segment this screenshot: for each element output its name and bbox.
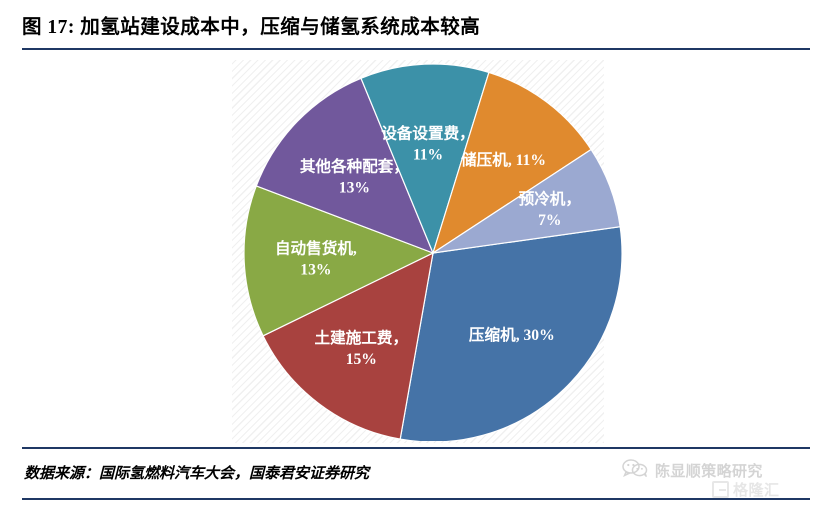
gelonghui-logo-icon bbox=[712, 481, 729, 498]
pie-slice-label: 压缩机, 30% bbox=[469, 325, 555, 344]
gelonghui-watermark-text: 格隆汇 bbox=[733, 479, 780, 500]
pie-chart: 压缩机, 30%土建施工费，15%自动售货机,13%其他各种配套，13%设备设置… bbox=[244, 63, 624, 441]
wechat-icon bbox=[622, 459, 648, 482]
source-note: 数据来源：国际氢燃料汽车大会，国泰君安证券研究 bbox=[24, 462, 369, 483]
pie-chart-container: 压缩机, 30%土建施工费，15%自动售货机,13%其他各种配套，13%设备设置… bbox=[22, 52, 810, 444]
pie-chart-svg: 压缩机, 30%土建施工费，15%自动售货机,13%其他各种配套，13%设备设置… bbox=[244, 63, 624, 441]
footer-divider-top bbox=[22, 447, 810, 449]
pie-slice-label: 储压机, 11% bbox=[460, 150, 546, 169]
gelonghui-watermark: 格隆汇 bbox=[712, 479, 780, 500]
title-divider bbox=[22, 48, 810, 50]
figure-header: 图 17: 加氢站建设成本中，压缩与储氢系统成本较高 bbox=[22, 14, 810, 48]
figure-title: 图 17: 加氢站建设成本中，压缩与储氢系统成本较高 bbox=[22, 14, 810, 42]
footer-divider-bottom bbox=[22, 498, 810, 500]
wechat-watermark-text: 陈显顺策略研究 bbox=[655, 460, 763, 481]
